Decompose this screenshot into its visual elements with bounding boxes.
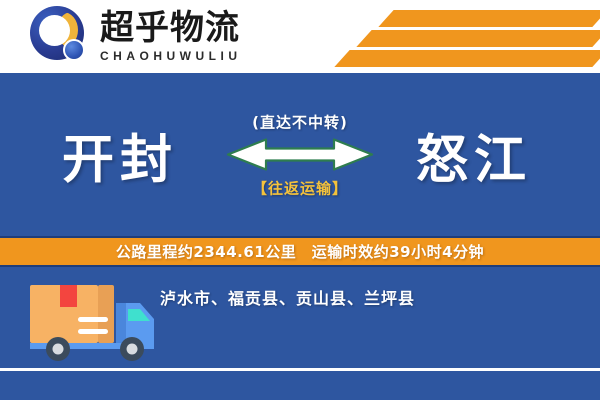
circle-crescent-logo-icon bbox=[30, 6, 92, 68]
header-stripe-2 bbox=[356, 30, 600, 47]
header-stripe-3 bbox=[334, 50, 600, 67]
bidirectional-arrow-icon bbox=[226, 136, 374, 172]
brand-name-en: CHAOHUWULIU bbox=[100, 49, 242, 63]
brand-logo: 超乎物流 CHAOHUWULIU bbox=[30, 6, 242, 68]
origin-city: 开封 bbox=[62, 117, 178, 192]
bottom-divider-line bbox=[0, 368, 600, 371]
header-stripes bbox=[320, 0, 600, 73]
coverage-section: 泸水市、福贡县、贡山县、兰坪县 bbox=[0, 267, 600, 400]
route-middle: (直达不中转) 【往返运输】 bbox=[226, 111, 374, 198]
direct-service-note: (直达不中转) bbox=[252, 111, 348, 132]
roundtrip-note: 【往返运输】 bbox=[252, 177, 348, 198]
destination-city: 怒江 bbox=[416, 117, 532, 192]
delivery-truck-icon bbox=[28, 279, 168, 369]
header-stripe-1 bbox=[378, 10, 600, 27]
route-section: 开封 (直达不中转) 【往返运输】 怒江 bbox=[0, 73, 600, 236]
coverage-areas-text: 泸水市、福贡县、贡山县、兰坪县 bbox=[160, 285, 415, 309]
logistics-route-banner: 超乎物流 CHAOHUWULIU 开封 (直达不中转) 【往返运输】 怒江 公路… bbox=[0, 0, 600, 400]
logo-dot bbox=[63, 39, 85, 61]
distance-duration-text: 公路里程约2344.61公里 运输时效约39小时4分钟 bbox=[116, 241, 484, 262]
route-info-bar: 公路里程约2344.61公里 运输时效约39小时4分钟 bbox=[0, 236, 600, 267]
brand-text: 超乎物流 CHAOHUWULIU bbox=[100, 11, 242, 63]
brand-name-cn: 超乎物流 bbox=[100, 11, 242, 47]
banner-header: 超乎物流 CHAOHUWULIU bbox=[0, 0, 600, 73]
